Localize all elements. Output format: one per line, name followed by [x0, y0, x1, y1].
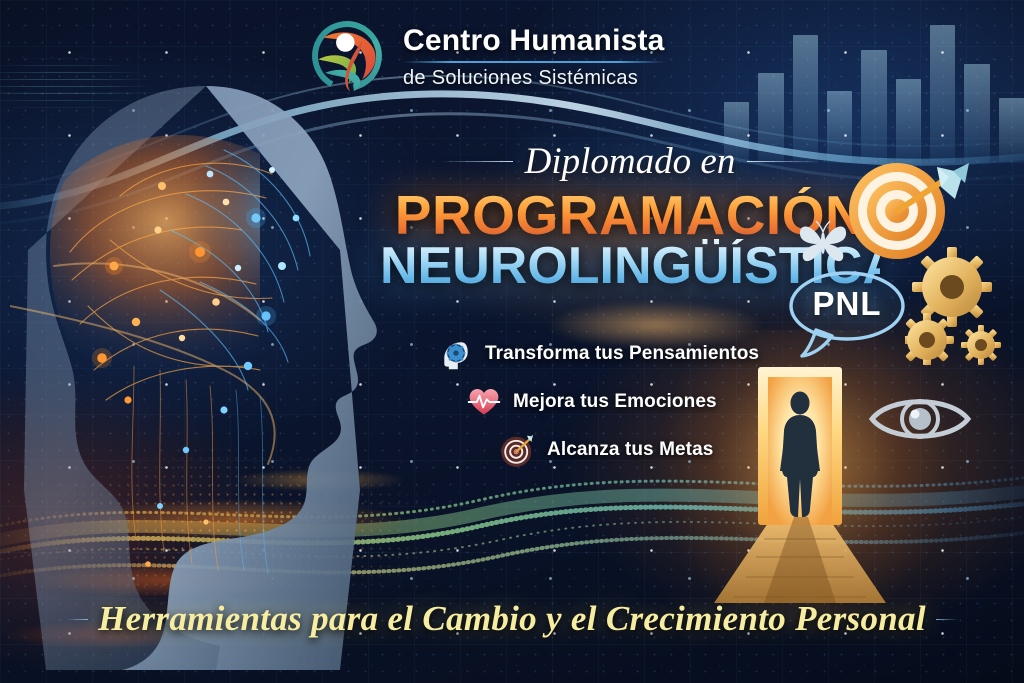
brand-divider: [403, 61, 665, 63]
poster-canvas: Centro Humanista de Soluciones Sistémica…: [0, 0, 1024, 683]
butterfly-icon: [797, 218, 849, 266]
kicker-rule-right: [747, 161, 819, 162]
tagline-rule-left: [66, 619, 88, 620]
background-particle-wave-gold: [0, 488, 1024, 683]
target-arrow-icon: [500, 432, 536, 468]
brand-subtitle: de Soluciones Sistémicas: [403, 67, 665, 90]
pnl-label: PNL: [786, 285, 908, 323]
benefit-item-emotions: Mejora tus Emociones: [466, 384, 800, 420]
tagline-text: Herramientas para el Cambio y el Crecimi…: [98, 599, 926, 639]
kicker-text: Diplomado en: [525, 140, 736, 183]
heartbeat-icon: [466, 384, 502, 420]
eye-icon: [868, 388, 972, 450]
benefit-label: Alcanza tus Metas: [547, 439, 713, 461]
header: Centro Humanista de Soluciones Sistémica…: [305, 14, 665, 98]
pnl-speech-bubble: PNL: [786, 266, 908, 358]
benefit-item-goals: Alcanza tus Metas: [500, 432, 800, 468]
brand-block: Centro Humanista de Soluciones Sistémica…: [403, 22, 665, 90]
head-gear-icon: [438, 336, 474, 372]
tagline-rule-right: [936, 619, 958, 620]
kicker-row: Diplomado en: [380, 140, 880, 183]
benefits-list: Transforma tus Pensamientos Mejora t: [400, 336, 800, 480]
benefit-label: Mejora tus Emociones: [513, 391, 717, 413]
brand-name: Centro Humanista: [403, 24, 665, 58]
kicker-rule-left: [441, 161, 513, 162]
gears-icon: [905, 245, 1020, 365]
neural-network-head-profile-icon: [10, 70, 440, 670]
benefit-label: Transforma tus Pensamientos: [485, 343, 759, 365]
centro-humanista-leaf-emblem-icon: [305, 14, 389, 98]
tagline: Herramientas para el Cambio y el Crecimi…: [0, 599, 1024, 639]
benefit-item-thoughts: Transforma tus Pensamientos: [438, 336, 800, 372]
background-equalizer-lines: [0, 44, 150, 124]
